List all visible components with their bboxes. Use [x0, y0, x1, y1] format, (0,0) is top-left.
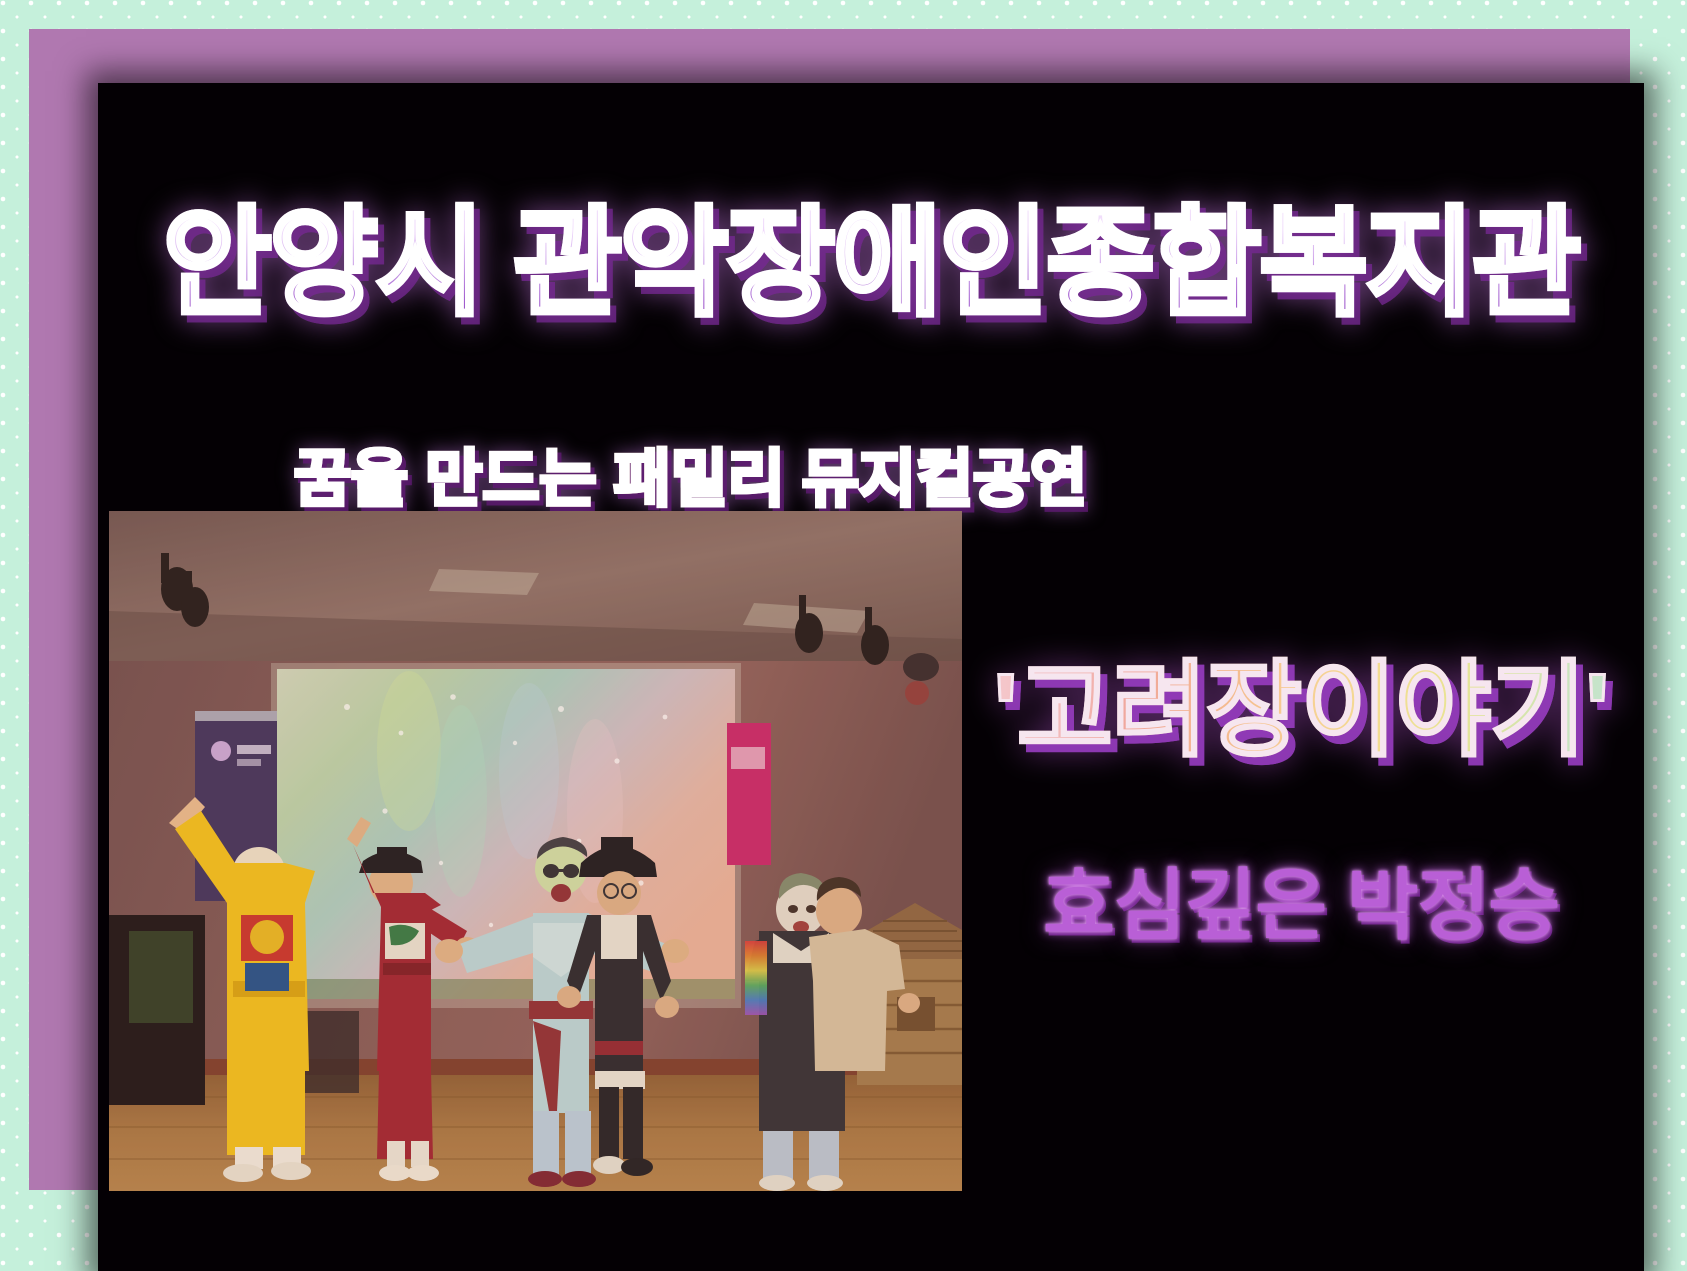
page-subtitle: 꿈을 만드는 패밀리 뮤지컬공연 [294, 428, 1087, 518]
show-title: '고려장이야기' [958, 625, 1644, 776]
poster-frame: 안양시 관악장애인종합복지관 꿈을 만드는 패밀리 뮤지컬공연 [29, 29, 1630, 1190]
page-title: 안양시 관악장애인종합복지관 [98, 203, 1644, 327]
poster-canvas: 안양시 관악장애인종합복지관 꿈을 만드는 패밀리 뮤지컬공연 [0, 0, 1687, 1271]
show-subtitle: 효심깊은 박정승 [958, 843, 1644, 955]
photo-illustration [109, 511, 962, 1191]
video-stage: 안양시 관악장애인종합복지관 꿈을 만드는 패밀리 뮤지컬공연 [98, 83, 1644, 1271]
performance-photo [109, 511, 962, 1191]
